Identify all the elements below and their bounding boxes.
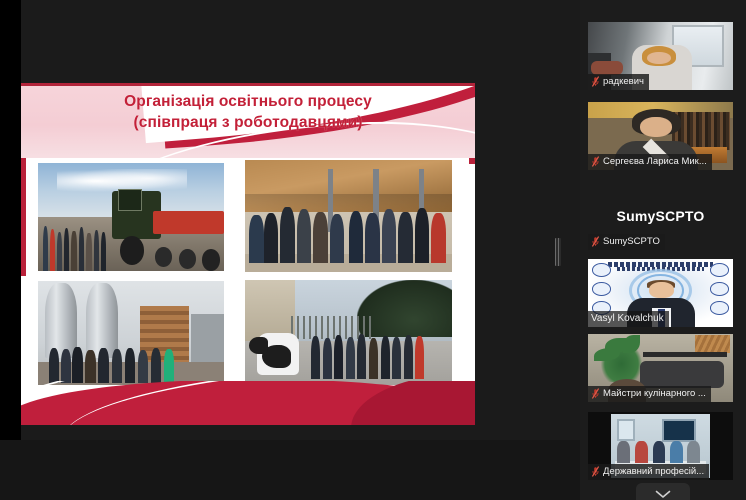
banner-emblem (710, 263, 729, 277)
factory-building (191, 314, 224, 362)
participant-tile-vasyl-kovalchuk[interactable]: Vasyl Kovalchuk (588, 259, 733, 327)
participant-name-text: Майстри кулінарного ... (603, 387, 706, 400)
banner-emblem (710, 282, 729, 296)
video-person-face (640, 117, 672, 137)
implement-disc (202, 249, 221, 271)
slide-photo-grid (38, 163, 452, 385)
splitter-grip-handle[interactable] (555, 238, 561, 266)
participant-tile-radkevich[interactable]: радкевич (588, 22, 733, 90)
participant-name-text: радкевич (603, 75, 644, 88)
mic-muted-icon (591, 466, 600, 477)
photo-people-group (42, 226, 116, 271)
banner-heading-text (608, 262, 712, 267)
slide-photo-tractor (38, 163, 224, 271)
video-person (617, 441, 630, 463)
video-window (617, 419, 635, 441)
stage-letterbox-bottom (0, 440, 580, 500)
tractor-wheel (120, 236, 144, 264)
photo-people-group (49, 345, 194, 382)
banner-emblem (592, 282, 611, 296)
participant-name-text: Державний професій... (603, 465, 704, 478)
video-person-arm (591, 61, 623, 75)
participant-name-label: Vasyl Kovalchuk (588, 311, 669, 327)
collapse-filmstrip-button[interactable] (636, 483, 690, 500)
video-conference-window: Організація освітнього процесу (співпрац… (0, 0, 746, 500)
participant-name-label: радкевич (588, 74, 649, 90)
shared-screen-stage[interactable]: Організація освітнього процесу (співпрац… (0, 0, 580, 500)
participant-filmstrip[interactable]: радкевич Сергеєва Лариса Мик... (580, 0, 746, 500)
video-wood-panel (695, 335, 730, 353)
panel-splitter[interactable] (551, 0, 565, 500)
photo-people-group (311, 333, 439, 379)
mic-muted-icon (591, 388, 600, 399)
video-person (653, 441, 666, 463)
slide-photo-barn (245, 160, 452, 272)
participant-name-label: Майстри кулінарного ... (588, 386, 711, 402)
participant-name-text: Сергеєва Лариса Мик... (603, 155, 707, 168)
slide-footer-decor (21, 381, 475, 425)
slide-title: Організація освітнього процесу (співпрац… (21, 91, 475, 133)
participant-tile-sumyscpto[interactable]: SumySCPTO SumySCPTO (588, 182, 733, 250)
red-implement (153, 211, 224, 235)
tractor-cab (118, 189, 142, 211)
participant-name-label: Сергеєва Лариса Мик... (588, 154, 712, 170)
video-shelf (643, 352, 727, 357)
participant-name-label: SumySCPTO (588, 234, 665, 250)
mic-muted-icon (591, 236, 600, 247)
slide-title-line-2: (співпраця з роботодавцями) (21, 112, 475, 133)
participant-name-text: Vasyl Kovalchuk (591, 312, 664, 325)
video-person-face (647, 52, 670, 64)
implement-disc (179, 249, 196, 268)
presentation-slide: Організація освітнього процесу (співпрац… (21, 83, 475, 425)
video-person (670, 441, 683, 463)
participant-tile-sergeeva[interactable]: Сергеєва Лариса Мик... (588, 102, 733, 170)
video-person (687, 441, 700, 463)
participant-name-text: SumySCPTO (603, 235, 660, 248)
banner-emblem (592, 263, 611, 277)
video-equipment (640, 361, 724, 388)
mic-muted-icon (591, 156, 600, 167)
cow-statue-head (249, 337, 268, 354)
slide-photo-silos (38, 281, 224, 385)
video-whiteboard (662, 419, 696, 442)
participant-tile-state-vocational[interactable]: Державний професій... (588, 412, 733, 480)
slide-photo-street-cow (245, 280, 452, 385)
video-person (635, 441, 648, 463)
video-person-face (649, 282, 674, 298)
slide-title-line-1: Організація освітнього процесу (21, 91, 475, 112)
implement-disc (155, 247, 172, 266)
photo-people-group (245, 205, 452, 263)
chevron-down-icon (655, 490, 671, 499)
banner-emblem (710, 301, 729, 315)
stage-letterbox-left (0, 0, 21, 500)
mic-muted-icon (591, 76, 600, 87)
participant-name-label: Державний професій... (588, 464, 709, 480)
participant-display-name: SumySCPTO (617, 208, 705, 224)
participant-tile-culinary[interactable]: Майстри кулінарного ... (588, 334, 733, 402)
